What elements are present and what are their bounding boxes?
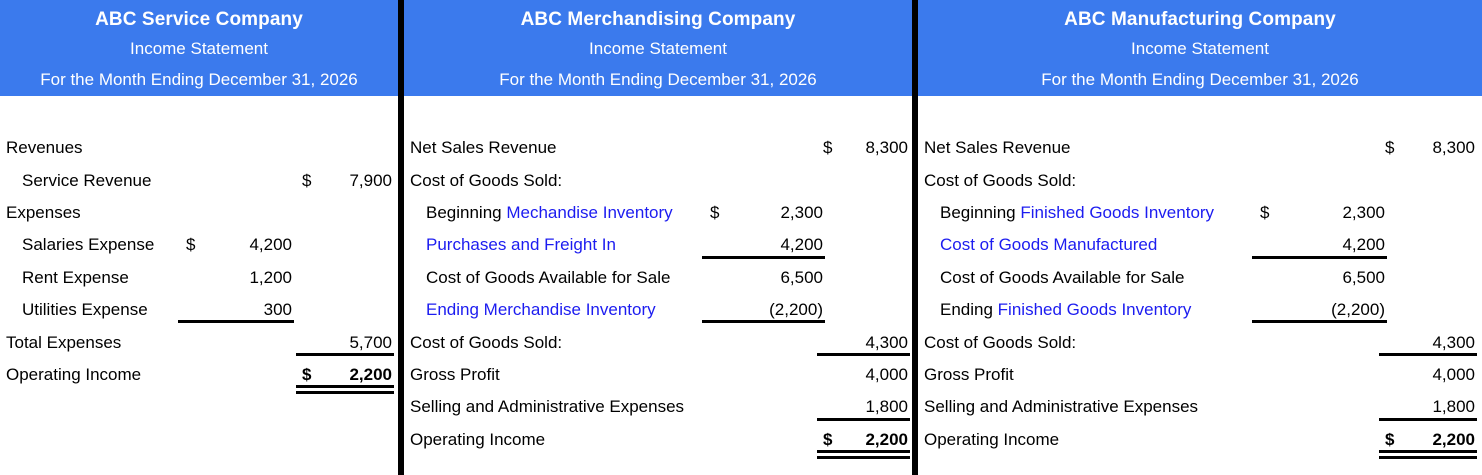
amount-outer: 4,000 <box>1385 365 1475 385</box>
line-item-label-highlight: Cost of Goods Manufactured <box>940 235 1157 254</box>
line-item-label: Beginning Mechandise Inventory <box>426 203 673 223</box>
line-item-label: Cost of Goods Available for Sale <box>940 268 1184 288</box>
subtotal-rule <box>1379 418 1477 421</box>
statement-line-item: Ending Merchandise Inventory(2,200) <box>404 294 912 326</box>
subtotal-rule <box>1252 256 1387 259</box>
amount-outer: 8,300 <box>1385 138 1475 158</box>
subtotal-rule <box>702 256 825 259</box>
line-item-label-highlight: Purchases and Freight In <box>426 235 616 254</box>
line-item-label: Ending Finished Goods Inventory <box>940 300 1191 320</box>
statement-line-item: Cost of Goods Manufactured4,200 <box>918 229 1482 261</box>
line-item-label: Revenues <box>6 138 83 158</box>
line-item-label: Rent Expense <box>22 268 129 288</box>
line-item-label-highlight: Finished Goods Inventory <box>998 300 1192 319</box>
total-double-rule <box>296 385 394 388</box>
line-item-label-highlight: Ending Merchandise Inventory <box>426 300 656 319</box>
amount-outer: 7,900 <box>302 171 392 191</box>
statement-line-item: Cost of Goods Sold: <box>918 164 1482 196</box>
statement-column-merchandising: ABC Merchandising Company Income Stateme… <box>404 0 912 475</box>
statement-title: Income Statement <box>1131 33 1269 64</box>
total-double-rule <box>1379 450 1477 453</box>
statement-column-manufacturing: ABC Manufacturing Company Income Stateme… <box>918 0 1482 475</box>
statement-column-service: ABC Service Company Income Statement For… <box>0 0 398 475</box>
line-item-label: Cost of Goods Sold: <box>410 333 562 353</box>
statement-line-item: Purchases and Freight In4,200 <box>404 229 912 261</box>
statement-body-manufacturing: Net Sales Revenue$8,300Cost of Goods Sol… <box>918 96 1482 475</box>
line-item-label: Selling and Administrative Expenses <box>410 397 684 417</box>
statement-line-item: Beginning Finished Goods Inventory$2,300 <box>918 197 1482 229</box>
statement-header-manufacturing: ABC Manufacturing Company Income Stateme… <box>918 0 1482 96</box>
amount-outer: 1,800 <box>1385 397 1475 417</box>
amount-inner: 2,300 <box>710 203 823 223</box>
company-name: ABC Service Company <box>95 7 303 33</box>
line-item-label: Salaries Expense <box>22 235 154 255</box>
line-item-label: Net Sales Revenue <box>924 138 1070 158</box>
line-item-label: Cost of Goods Available for Sale <box>426 268 670 288</box>
amount-outer: 2,200 <box>823 430 908 450</box>
line-item-label: Purchases and Freight In <box>426 235 616 255</box>
statement-period: For the Month Ending December 31, 2026 <box>499 64 817 95</box>
line-item-label: Cost of Goods Manufactured <box>940 235 1157 255</box>
statement-line-item: Ending Finished Goods Inventory(2,200) <box>918 294 1482 326</box>
statement-title: Income Statement <box>589 33 727 64</box>
line-item-label: Expenses <box>6 203 81 223</box>
subtotal-rule <box>1252 320 1387 323</box>
amount-inner: 4,200 <box>186 235 292 255</box>
line-item-label: Cost of Goods Sold: <box>924 333 1076 353</box>
statement-line-item: Cost of Goods Sold: <box>404 164 912 196</box>
statement-line-item: Net Sales Revenue$8,300 <box>918 132 1482 164</box>
line-item-label: Total Expenses <box>6 333 121 353</box>
line-item-label: Gross Profit <box>410 365 500 385</box>
total-double-rule <box>817 450 910 453</box>
statement-header-merchandising: ABC Merchandising Company Income Stateme… <box>404 0 912 96</box>
line-item-label: Gross Profit <box>924 365 1014 385</box>
amount-outer: 4,300 <box>1385 333 1475 353</box>
company-name: ABC Manufacturing Company <box>1064 7 1336 33</box>
statement-line-item: Service Revenue$7,900 <box>0 164 398 196</box>
amount-inner: (2,200) <box>1260 300 1385 320</box>
amount-outer: 2,200 <box>1385 430 1475 450</box>
line-item-label: Operating Income <box>6 365 141 385</box>
statement-line-item: Beginning Mechandise Inventory$2,300 <box>404 197 912 229</box>
amount-outer: 5,700 <box>302 333 392 353</box>
line-item-label: Utilities Expense <box>22 300 148 320</box>
amount-inner: 4,200 <box>710 235 823 255</box>
amount-outer: 8,300 <box>823 138 908 158</box>
subtotal-rule <box>296 353 394 356</box>
income-statement-comparison: ABC Service Company Income Statement For… <box>0 0 1482 475</box>
amount-inner: (2,200) <box>710 300 823 320</box>
subtotal-rule <box>1379 353 1477 356</box>
statement-header-service: ABC Service Company Income Statement For… <box>0 0 398 96</box>
subtotal-rule <box>817 418 910 421</box>
line-item-label: Cost of Goods Sold: <box>924 171 1076 191</box>
amount-outer: 2,200 <box>302 365 392 385</box>
statement-line-item: Gross Profit4,000 <box>404 359 912 391</box>
line-item-label-black: Ending <box>940 300 998 319</box>
amount-inner: 300 <box>186 300 292 320</box>
line-item-label: Net Sales Revenue <box>410 138 556 158</box>
amount-inner: 6,500 <box>710 268 823 288</box>
company-name: ABC Merchandising Company <box>521 7 796 33</box>
line-item-label-black: Beginning <box>940 203 1020 222</box>
line-item-label: Operating Income <box>410 430 545 450</box>
statement-line-item: Gross Profit4,000 <box>918 359 1482 391</box>
statement-period: For the Month Ending December 31, 2026 <box>1041 64 1359 95</box>
line-item-label: Cost of Goods Sold: <box>410 171 562 191</box>
statement-line-item: Rent Expense1,200 <box>0 262 398 294</box>
subtotal-rule <box>817 353 910 356</box>
statement-line-item: Net Sales Revenue$8,300 <box>404 132 912 164</box>
line-item-label: Ending Merchandise Inventory <box>426 300 656 320</box>
line-item-label: Operating Income <box>924 430 1059 450</box>
subtotal-rule <box>178 320 294 323</box>
subtotal-rule <box>702 320 825 323</box>
line-item-label: Service Revenue <box>22 171 151 191</box>
statement-body-service: RevenuesService Revenue$7,900ExpensesSal… <box>0 96 398 475</box>
statement-line-item: Salaries Expense$4,200 <box>0 229 398 261</box>
statement-line-item: Expenses <box>0 197 398 229</box>
statement-line-item: Cost of Goods Available for Sale6,500 <box>404 262 912 294</box>
statement-period: For the Month Ending December 31, 2026 <box>40 64 358 95</box>
amount-outer: 1,800 <box>823 397 908 417</box>
statement-line-item: Cost of Goods Available for Sale6,500 <box>918 262 1482 294</box>
statement-body-merchandising: Net Sales Revenue$8,300Cost of Goods Sol… <box>404 96 912 475</box>
statement-title: Income Statement <box>130 33 268 64</box>
amount-inner: 1,200 <box>186 268 292 288</box>
amount-inner: 2,300 <box>1260 203 1385 223</box>
line-item-label: Beginning Finished Goods Inventory <box>940 203 1214 223</box>
amount-inner: 6,500 <box>1260 268 1385 288</box>
amount-inner: 4,200 <box>1260 235 1385 255</box>
statement-line-item: Revenues <box>0 132 398 164</box>
line-item-label-black: Beginning <box>426 203 506 222</box>
amount-outer: 4,300 <box>823 333 908 353</box>
amount-outer: 4,000 <box>823 365 908 385</box>
line-item-label-highlight: Finished Goods Inventory <box>1020 203 1214 222</box>
line-item-label: Selling and Administrative Expenses <box>924 397 1198 417</box>
line-item-label-highlight: Mechandise Inventory <box>506 203 672 222</box>
